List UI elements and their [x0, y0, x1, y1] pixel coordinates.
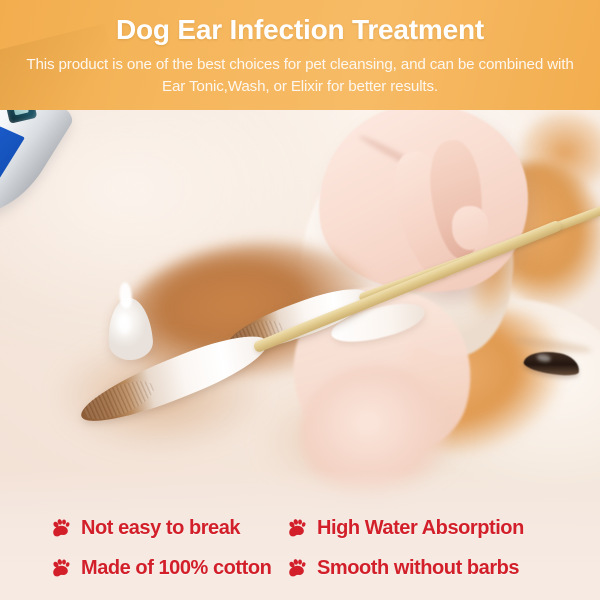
feature-label: Made of 100% cotton [81, 557, 271, 580]
page-subtitle: This product is one of the best choices … [22, 54, 578, 97]
feature-item: Smooth without barbs [278, 557, 600, 580]
header-banner: Dog Ear Infection Treatment This product… [0, 0, 600, 110]
paw-print-icon [50, 557, 72, 579]
product-marketing-poster: Dog Ear Infection Treatment This product… [0, 0, 600, 600]
feature-list: Not easy to break High Water Absorption [0, 508, 600, 588]
page-title: Dog Ear Infection Treatment [0, 16, 600, 44]
feature-item: Made of 100% cotton [0, 557, 278, 580]
paw-print-icon [286, 517, 308, 539]
feature-label: Smooth without barbs [317, 557, 519, 580]
paw-print-icon [50, 517, 72, 539]
feature-item: High Water Absorption [278, 517, 600, 540]
feature-label: Not easy to break [81, 517, 240, 540]
feature-item: Not easy to break [0, 517, 278, 540]
hand-thumbnail [452, 206, 488, 250]
feature-label: High Water Absorption [317, 517, 524, 540]
paw-print-icon [286, 557, 308, 579]
